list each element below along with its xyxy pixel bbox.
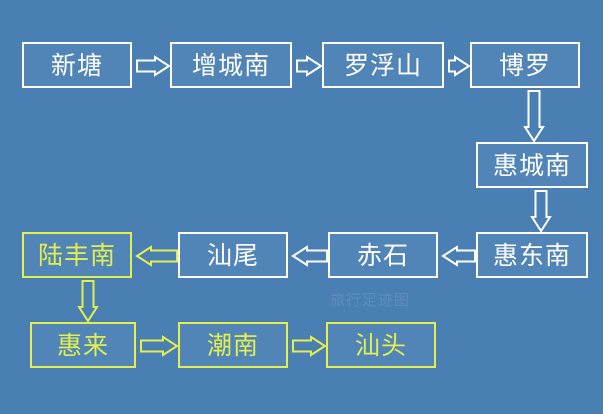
station-node-xintang[interactable]: 新塘 [22,42,132,88]
station-label: 赤石 [357,243,409,268]
arrow-huidongnan-to-chishi [442,245,476,267]
station-node-luofushan[interactable]: 罗浮山 [322,42,444,88]
station-label: 惠东南 [493,243,571,268]
arrow-shanwei-to-lufengnan [136,245,178,267]
station-label: 增城南 [192,53,270,78]
station-node-huichengnan[interactable]: 惠城南 [476,142,588,188]
station-node-boluo[interactable]: 博罗 [470,42,580,88]
station-node-shanwei[interactable]: 汕尾 [178,232,288,278]
arrow-huichengnan-to-huidongnan [530,190,552,232]
station-node-huidongnan[interactable]: 惠东南 [476,232,588,278]
station-label: 潮南 [207,333,259,358]
arrow-zengchengnan-to-luofushan [296,55,322,77]
station-label: 惠来 [57,333,109,358]
arrow-xintang-to-zengchengnan [136,55,170,77]
station-node-chishi[interactable]: 赤石 [328,232,438,278]
station-label: 惠城南 [493,153,571,178]
arrow-chaonan-to-shantou [292,335,326,357]
station-node-huilai[interactable]: 惠来 [30,322,136,368]
arrow-boluo-to-huichengnan [523,90,545,142]
station-node-shantou[interactable]: 汕头 [326,322,436,368]
watermark-text: 旅行足迹图 [330,289,410,310]
route-diagram-canvas: 旅行足迹图 新塘增城南罗浮山博罗惠城南陆丰南汕尾赤石惠东南惠来潮南汕头 [0,0,603,414]
station-node-lufengnan[interactable]: 陆丰南 [22,232,132,278]
station-label: 新塘 [51,53,103,78]
arrow-huilai-to-chaonan [140,335,178,357]
arrow-luofushan-to-boluo [448,55,470,77]
station-label: 汕头 [355,333,407,358]
arrow-lufengnan-to-huilai [77,280,99,322]
station-label: 博罗 [499,53,551,78]
station-node-chaonan[interactable]: 潮南 [178,322,288,368]
station-node-zengchengnan[interactable]: 增城南 [170,42,292,88]
station-label: 汕尾 [207,243,259,268]
station-label: 罗浮山 [344,53,422,78]
station-label: 陆丰南 [38,243,116,268]
arrow-chishi-to-shanwei [292,245,328,267]
